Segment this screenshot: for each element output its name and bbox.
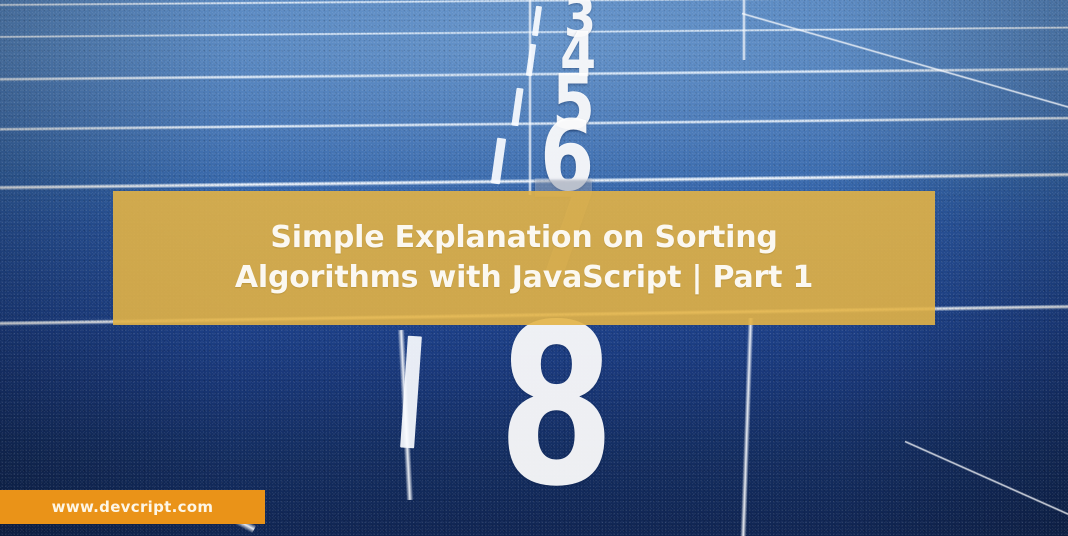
site-url-ribbon[interactable]: www.devcript.com [0, 490, 265, 524]
title-overlay-plate: Simple Explanation on Sorting Algorithms… [113, 191, 935, 325]
site-url-text: www.devcript.com [52, 498, 214, 516]
lane-number-8: 8 [498, 295, 613, 517]
page-title-line-1: Simple Explanation on Sorting [270, 218, 777, 258]
featured-image-banner: 3 4 5 6 7 8 Simple Explanation on Sortin… [0, 0, 1068, 536]
page-title-line-2: Algorithms with JavaScript | Part 1 [235, 258, 813, 298]
lane-separator-line [742, 0, 746, 60]
